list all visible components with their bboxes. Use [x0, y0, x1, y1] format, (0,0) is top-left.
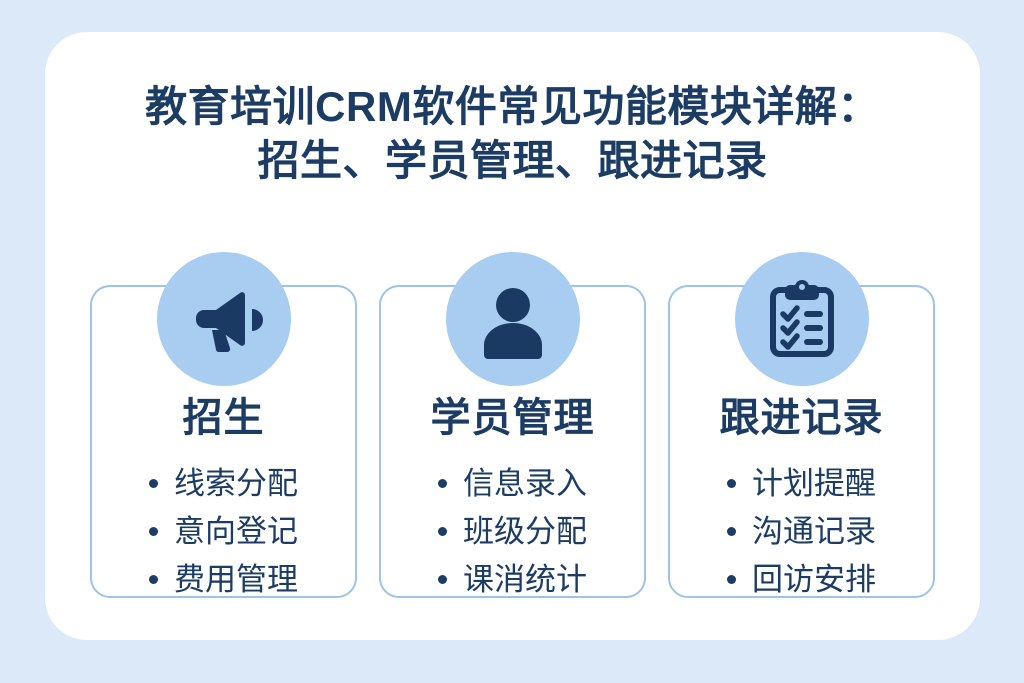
person-icon	[473, 279, 553, 359]
module-card-group: 招生 线索分配 意向登记 费用管理	[90, 285, 935, 598]
bullet-dot-icon	[438, 527, 447, 536]
list-item-label: 回访安排	[752, 564, 876, 595]
icon-badge	[446, 252, 580, 386]
card-heading: 招生	[92, 398, 355, 438]
feature-list: 计划提醒 沟通记录 回访安排	[670, 459, 933, 603]
clipboard-checklist-icon	[762, 279, 842, 359]
page-title: 教育培训CRM软件常见功能模块详解： 招生、学员管理、跟进记录	[45, 80, 980, 188]
list-item-label: 班级分配	[463, 516, 587, 547]
poster-root: 教育培训CRM软件常见功能模块详解： 招生、学员管理、跟进记录 招生	[0, 0, 1024, 683]
module-card-recruitment[interactable]: 招生 线索分配 意向登记 费用管理	[90, 285, 357, 598]
list-item-label: 费用管理	[174, 564, 298, 595]
bullet-dot-icon	[727, 527, 736, 536]
list-item[interactable]: 计划提醒	[670, 459, 933, 507]
bullet-dot-icon	[149, 479, 158, 488]
list-item[interactable]: 班级分配	[381, 507, 644, 555]
list-item-label: 课消统计	[463, 564, 587, 595]
bullet-dot-icon	[438, 575, 447, 584]
list-item[interactable]: 沟通记录	[670, 507, 933, 555]
list-item-label: 信息录入	[463, 468, 587, 499]
list-item[interactable]: 线索分配	[92, 459, 355, 507]
megaphone-icon	[184, 279, 264, 359]
title-line-1: 教育培训CRM软件常见功能模块详解：	[45, 80, 980, 134]
list-item[interactable]: 课消统计	[381, 555, 644, 603]
icon-badge	[735, 252, 869, 386]
list-item-label: 沟通记录	[752, 516, 876, 547]
icon-badge	[157, 252, 291, 386]
list-item-label: 意向登记	[174, 516, 298, 547]
bullet-dot-icon	[149, 575, 158, 584]
bullet-dot-icon	[438, 479, 447, 488]
list-item[interactable]: 信息录入	[381, 459, 644, 507]
card-heading: 跟进记录	[670, 398, 933, 438]
card-heading: 学员管理	[381, 398, 644, 438]
list-item-label: 计划提醒	[752, 468, 876, 499]
bullet-dot-icon	[727, 575, 736, 584]
list-item[interactable]: 回访安排	[670, 555, 933, 603]
list-item[interactable]: 费用管理	[92, 555, 355, 603]
feature-list: 线索分配 意向登记 费用管理	[92, 459, 355, 603]
feature-list: 信息录入 班级分配 课消统计	[381, 459, 644, 603]
list-item-label: 线索分配	[174, 468, 298, 499]
bullet-dot-icon	[149, 527, 158, 536]
bullet-dot-icon	[727, 479, 736, 488]
module-card-student-management[interactable]: 学员管理 信息录入 班级分配 课消统计	[379, 285, 646, 598]
module-card-followup-records[interactable]: 跟进记录 计划提醒 沟通记录 回访安排	[668, 285, 935, 598]
title-line-2: 招生、学员管理、跟进记录	[45, 134, 980, 188]
list-item[interactable]: 意向登记	[92, 507, 355, 555]
content-panel: 教育培训CRM软件常见功能模块详解： 招生、学员管理、跟进记录 招生	[45, 32, 980, 640]
